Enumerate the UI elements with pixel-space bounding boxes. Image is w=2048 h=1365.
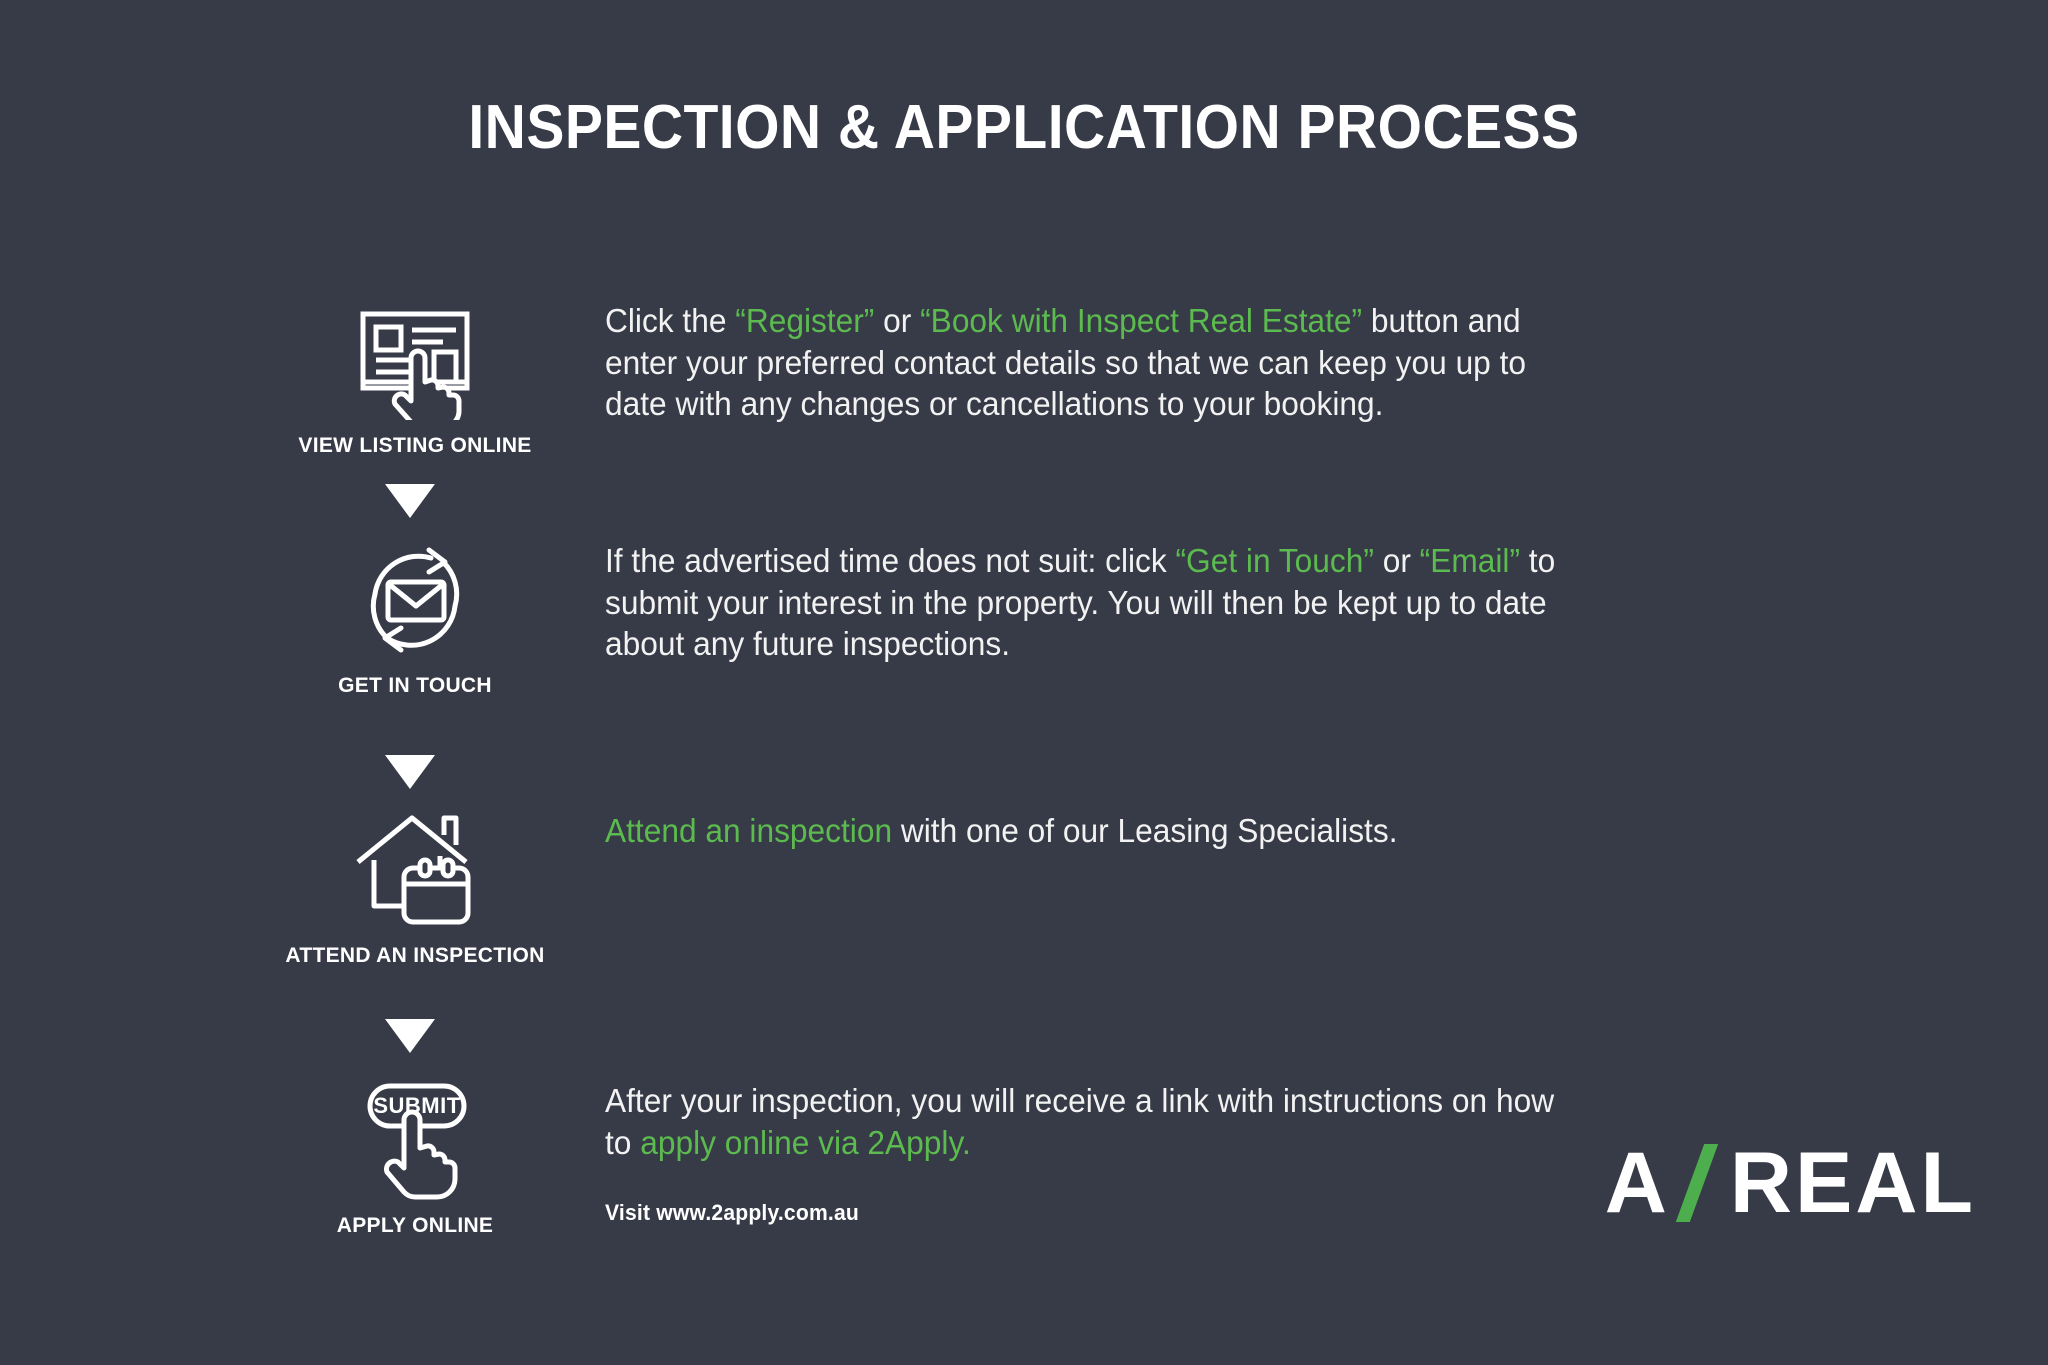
logo-word-real: REAL [1730, 1140, 1976, 1226]
arrow-down-icon-1 [385, 484, 435, 518]
step-2-text-1: “Get in Touch” [1176, 542, 1374, 579]
step-2-label: GET IN TOUCH [270, 674, 560, 698]
step-1-text-3: “Book with Inspect Real Estate” [920, 302, 1362, 339]
logo-letter-a: A [1605, 1140, 1670, 1226]
step-3-text-1: with one of our Leasing Specialists. [892, 812, 1397, 849]
step-3-label: ATTEND AN INSPECTION [270, 944, 560, 968]
submit-button-cursor-icon: SUBMIT [270, 1080, 560, 1200]
logo-slash-icon [1676, 1144, 1718, 1222]
step-3-body: Attend an inspection with one of our Lea… [605, 810, 1575, 852]
step-2-text-0: If the advertised time does not suit: cl… [605, 542, 1176, 579]
step-4-label: APPLY ONLINE [270, 1214, 560, 1238]
page-title: INSPECTION & APPLICATION PROCESS [82, 92, 1966, 163]
step-1-body: Click the “Register” or “Book with Inspe… [605, 300, 1575, 425]
step-3-icon-column: ATTEND AN INSPECTION [270, 810, 560, 968]
step-4-body: After your inspection, you will receive … [605, 1080, 1575, 1227]
arrow-down-icon-3 [385, 1019, 435, 1053]
listing-page-with-cursor-icon [270, 300, 560, 420]
step-1-text-1: “Register” [735, 302, 874, 339]
step-3-text-0: Attend an inspection [605, 812, 892, 849]
step-2-icon-column: GET IN TOUCH [270, 540, 560, 698]
arrow-down-icon-2 [385, 755, 435, 789]
step-1-text-0: Click the [605, 302, 735, 339]
step-2-body: If the advertised time does not suit: cl… [605, 540, 1575, 665]
infographic-page: INSPECTION & APPLICATION PROCESS VIEW LI… [0, 0, 2048, 1365]
step-2-text-2: or [1374, 542, 1420, 579]
step-4-icon-column: SUBMIT APPLY ONLINE [270, 1080, 560, 1238]
brand-logo: A REAL [1605, 1140, 1976, 1226]
step-1-icon-column: VIEW LISTING ONLINE [270, 300, 560, 458]
step-1-label: VIEW LISTING ONLINE [270, 434, 560, 458]
house-calendar-icon [270, 810, 560, 930]
visit-url-note: Visit www.2apply.com.au [605, 1199, 1575, 1227]
step-4-text-1: apply online via 2Apply. [640, 1124, 971, 1161]
envelope-refresh-icon [270, 540, 560, 660]
step-1-text-2: or [874, 302, 920, 339]
step-2-text-3: “Email” [1420, 542, 1520, 579]
